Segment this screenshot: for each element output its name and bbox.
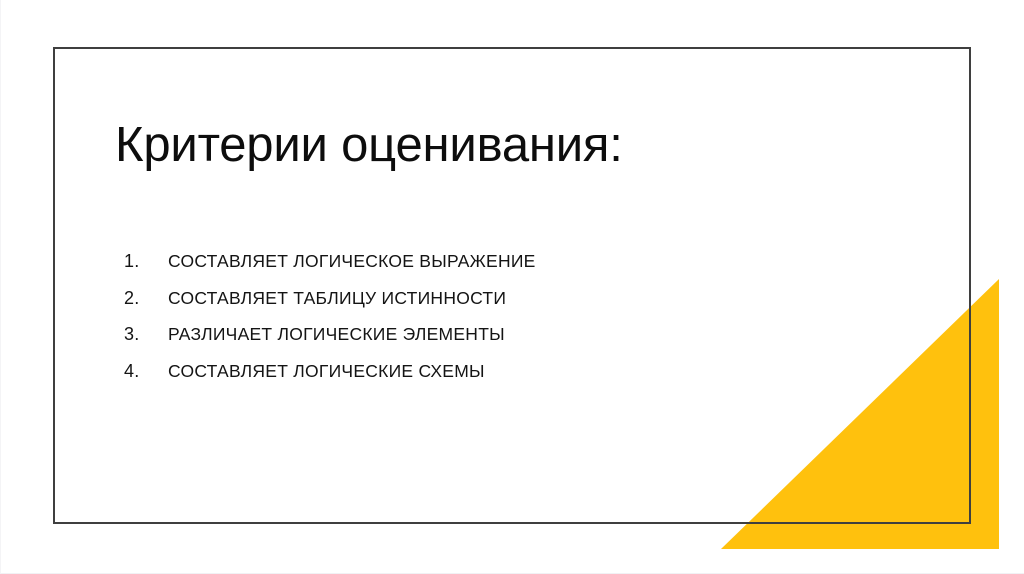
list-item-number: 3.	[124, 324, 168, 345]
list-item: 3. РАЗЛИЧАЕТ ЛОГИЧЕСКИЕ ЭЛЕМЕНТЫ	[124, 324, 536, 361]
list-item: 1. СОСТАВЛЯЕТ ЛОГИЧЕСКОЕ ВЫРАЖЕНИЕ	[124, 251, 536, 288]
list-item: 2. СОСТАВЛЯЕТ ТАБЛИЦУ ИСТИННОСТИ	[124, 288, 536, 325]
list-item: 4. СОСТАВЛЯЕТ ЛОГИЧЕСКИЕ СХЕМЫ	[124, 361, 536, 398]
list-item-number: 2.	[124, 288, 168, 309]
list-item-number: 4.	[124, 361, 168, 382]
list-item-label: СОСТАВЛЯЕТ ЛОГИЧЕСКИЕ СХЕМЫ	[168, 361, 485, 382]
list-item-number: 1.	[124, 251, 168, 272]
list-item-label: СОСТАВЛЯЕТ ЛОГИЧЕСКОЕ ВЫРАЖЕНИЕ	[168, 251, 536, 272]
list-item-label: РАЗЛИЧАЕТ ЛОГИЧЕСКИЕ ЭЛЕМЕНТЫ	[168, 324, 505, 345]
criteria-list: 1. СОСТАВЛЯЕТ ЛОГИЧЕСКОЕ ВЫРАЖЕНИЕ 2. СО…	[124, 251, 536, 397]
list-item-label: СОСТАВЛЯЕТ ТАБЛИЦУ ИСТИННОСТИ	[168, 288, 506, 309]
page-title: Критерии оценивания:	[115, 118, 623, 173]
slide-canvas: Критерии оценивания: 1. СОСТАВЛЯЕТ ЛОГИЧ…	[0, 0, 1024, 574]
